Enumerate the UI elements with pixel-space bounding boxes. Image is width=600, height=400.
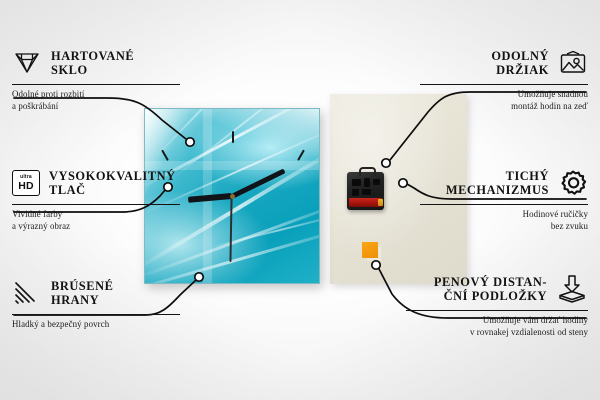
clock-mechanism-photo [347,172,384,210]
feature-header: HARTOVANÉ SKLO [12,46,220,80]
clock-center-cap [230,194,235,199]
feather-streak [144,223,320,284]
feather-streak [153,108,237,159]
ultra-hd-badge-icon: ultra HD [12,170,40,196]
mechanism-detail [362,189,371,195]
clock-minute-hand [231,169,285,198]
feature-silent-mechanism: TICHÝ MECHANIZMUS Hodinové ručičky bez z… [380,166,588,232]
feature-title: TICHÝ MECHANIZMUS [446,169,549,198]
feature-foam-spacers: PENOVÝ DISTAN- ČNÍ PODLOŽKY Umožňuje vám… [380,272,588,338]
ground-edges-icon [12,280,42,306]
clock-second-hand [230,196,233,262]
hour-marker [232,131,234,143]
feature-description: Odolné proti rozbití a poškrábání [12,89,220,112]
feature-description: Hladký a bezpečný povrch [12,319,220,330]
feature-title: PENOVÝ DISTAN- ČNÍ PODLOŽKY [434,275,547,304]
mechanism-detail [364,178,370,187]
feature-header: TICHÝ MECHANIZMUS [380,166,588,200]
feather-streak [207,211,320,249]
product-infographic: HARTOVANÉ SKLO Odolné proti rozbití a po… [0,0,600,400]
feature-high-quality-print: ultra HD VYSOKOKVALITNÝ TLAČ Vividné far… [12,166,220,232]
feature-description: Umožňuje vám držať hodiny v rovnakej vzd… [380,315,588,338]
diamond-icon [12,50,42,76]
mechanism-hanger-hook [359,167,376,176]
feature-title: HARTOVANÉ SKLO [51,49,134,78]
feature-description: Vividné farby a výrazný obraz [12,209,220,232]
feature-durable-holder: ODOLNÝ DRŽIAK Umožňuje snadnou montáž ho… [380,46,588,112]
feature-header: PENOVÝ DISTAN- ČNÍ PODLOŽKY [380,272,588,306]
hour-marker [297,149,305,160]
hour-marker [161,149,169,160]
mechanism-detail [373,179,380,185]
feature-tempered-glass: HARTOVANÉ SKLO Odolné proti rozbití a po… [12,46,220,112]
gear-icon [558,169,588,197]
feature-title: ODOLNÝ DRŽIAK [491,49,549,78]
feature-divider [12,84,180,85]
feature-description: Umožňuje snadnou montáž hodin na zeď [380,89,588,112]
mechanism-detail [352,189,359,196]
feature-divider [420,204,588,205]
feature-polished-edges: BRÚSENÉ HRANY Hladký a bezpečný povrch [12,276,220,331]
battery [349,198,382,207]
picture-frame-hanger-icon [558,50,588,76]
mechanism-detail [352,179,361,186]
feature-header: BRÚSENÉ HRANY [12,276,220,310]
feature-header: ultra HD VYSOKOKVALITNÝ TLAČ [12,166,220,200]
feature-header: ODOLNÝ DRŽIAK [380,46,588,80]
feature-divider [420,84,588,85]
feature-divider [12,204,180,205]
feature-title: BRÚSENÉ HRANY [51,279,113,308]
feature-divider [406,310,588,311]
feature-description: Hodinové ručičky bez zvuku [380,209,588,232]
down-arrow-pad-icon [556,274,588,304]
feature-divider [12,314,180,315]
feature-title: VYSOKOKVALITNÝ TLAČ [49,169,176,198]
foam-spacer-pad-photo [362,242,378,258]
